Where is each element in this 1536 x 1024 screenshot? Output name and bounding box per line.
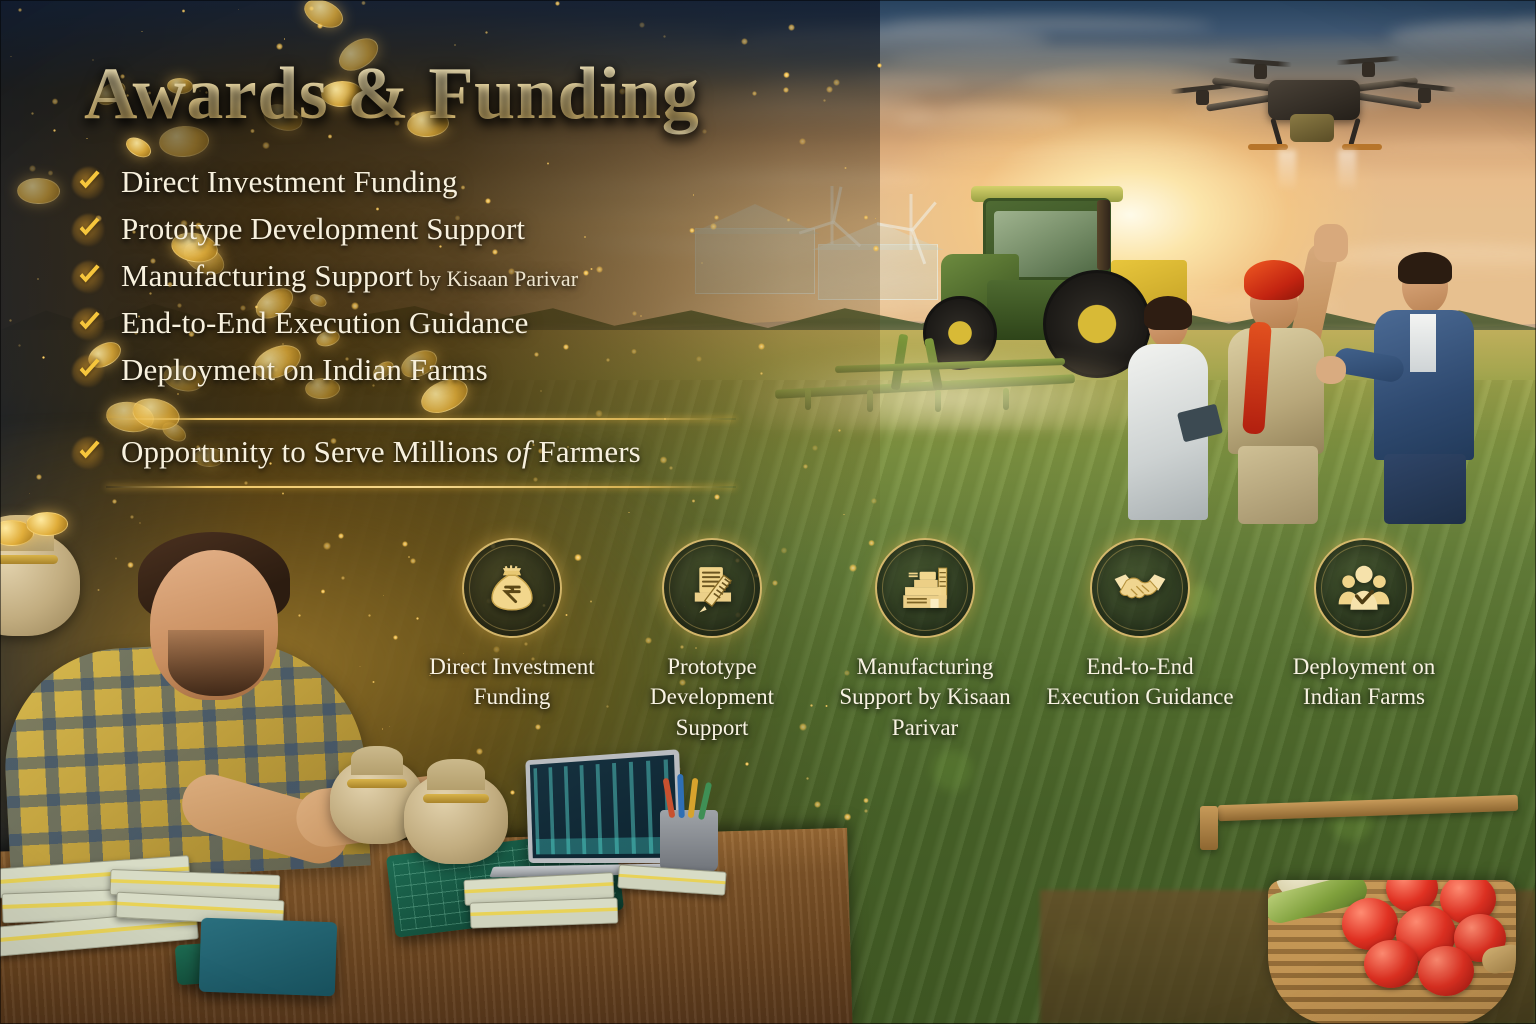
poster-canvas: Awards & Funding Direct Investment Fundi… (0, 0, 1536, 1024)
drone-motor (1254, 64, 1267, 79)
list-item-label: Deployment on Indian Farms (121, 352, 488, 388)
pipeline-node-label: End-to-End Execution Guidance (1040, 652, 1240, 713)
drone-motor (1196, 90, 1209, 105)
drone-spray-mist (1278, 150, 1296, 192)
pipeline-node-deployment-on-indian-farms[interactable]: Deployment on Indian Farms (1264, 538, 1464, 713)
benefits-list: Direct Investment Funding Prototype Deve… (74, 158, 764, 393)
businessman-hair (1398, 252, 1452, 284)
list-item-sublabel: by Kisaan Parivar (413, 266, 578, 291)
drone-spray-tank (1290, 114, 1334, 142)
pipeline-node-circle (1314, 538, 1414, 638)
list-item-label: Prototype Development Support (121, 211, 525, 247)
check-icon (74, 437, 104, 467)
blueprint-pen-icon (683, 559, 741, 617)
check-icon (74, 261, 104, 291)
farmer-kurta (1228, 328, 1324, 454)
pipeline-node-direct-investment-funding[interactable]: Direct Investment Funding (412, 538, 612, 713)
list-item: Direct Investment Funding (74, 158, 764, 205)
tomato (1364, 940, 1418, 988)
check-icon (74, 355, 104, 385)
agronomist-figure (1124, 300, 1210, 520)
highlight-row: Opportunity to Serve Millions of Farmers (74, 428, 794, 475)
divider-top (106, 418, 736, 420)
drone-motor (1418, 88, 1431, 103)
list-item: Prototype Development Support (74, 205, 764, 252)
farmer-hand (1314, 224, 1348, 262)
factory-icon (896, 559, 954, 617)
turbine-mast (910, 194, 913, 250)
businessman-hand (1316, 356, 1346, 384)
cloud (1212, 44, 1536, 56)
farmer-trousers (1238, 446, 1318, 524)
spray-drone (1190, 58, 1436, 158)
pcb-card (199, 918, 337, 997)
money-bag-rupee-icon (483, 559, 541, 617)
benefit-pipeline: Direct Investment Funding Prototype Deve… (0, 530, 1536, 790)
drone-leg (1270, 118, 1283, 146)
pipeline-node-manufacturing-support[interactable]: Manufacturing Support by Kisaan Parivar (825, 538, 1025, 743)
list-item: Manufacturing Support by Kisaan Parivar (74, 252, 764, 299)
list-item-label: Manufacturing Support by Kisaan Parivar (121, 258, 578, 294)
farmer-red-turban (1244, 260, 1304, 300)
pipeline-node-prototype-development-support[interactable]: Prototype Development Support (612, 538, 812, 743)
businessman-trousers (1384, 454, 1466, 524)
list-item: End-to-End Execution Guidance (74, 299, 764, 346)
pipeline-node-circle (662, 538, 762, 638)
drone-spray-mist (1338, 150, 1356, 192)
pipeline-node-circle (875, 538, 975, 638)
cloud (924, 149, 1222, 160)
businessman-figure (1368, 256, 1480, 524)
check-icon (74, 308, 104, 338)
people-group-check-icon (1335, 559, 1393, 617)
businessman-shirt (1410, 314, 1436, 372)
highlight-label: Opportunity to Serve Millions of Farmers (121, 434, 641, 470)
pipeline-node-label: Deployment on Indian Farms (1264, 652, 1464, 713)
divider-bottom (106, 486, 736, 488)
check-icon (74, 214, 104, 244)
tomato (1418, 946, 1474, 996)
check-icon (74, 167, 104, 197)
pen-cup (660, 810, 718, 872)
turbine-blade (911, 201, 936, 231)
pipeline-node-label: Manufacturing Support by Kisaan Parivar (825, 652, 1025, 743)
cash-bundle (470, 897, 619, 928)
pipeline-node-circle (462, 538, 562, 638)
pipeline-node-circle (1090, 538, 1190, 638)
list-item-label: End-to-End Execution Guidance (121, 305, 529, 341)
drone-leg (1348, 118, 1361, 146)
pipeline-node-end-to-end-execution-guidance[interactable]: End-to-End Execution Guidance (1040, 538, 1240, 713)
highlight-emphasis: of (506, 434, 530, 469)
pipeline-node-label: Direct Investment Funding (412, 652, 612, 713)
garden-bed-side (1200, 806, 1218, 850)
pipeline-node-label: Prototype Development Support (612, 652, 812, 743)
drone-motor (1362, 62, 1375, 77)
agronomist-hair (1144, 296, 1192, 330)
tractor-exhaust-stack (1097, 200, 1110, 270)
highlight-item: Opportunity to Serve Millions of Farmers (74, 428, 794, 475)
farmer-figure (1222, 248, 1344, 524)
wind-turbine-2 (885, 194, 937, 250)
list-item: Deployment on Indian Farms (74, 346, 764, 393)
harvest-basket (1268, 880, 1516, 1024)
handshake-icon (1111, 559, 1169, 617)
list-item-label: Direct Investment Funding (121, 164, 458, 200)
page-title: Awards & Funding (84, 52, 699, 137)
